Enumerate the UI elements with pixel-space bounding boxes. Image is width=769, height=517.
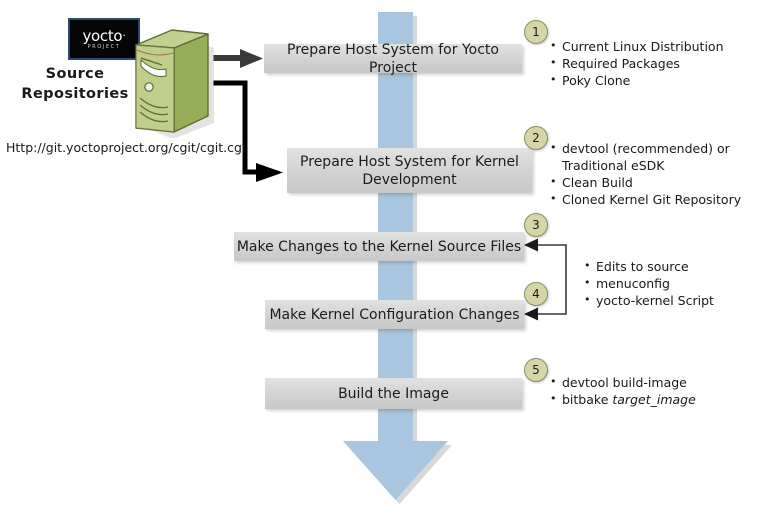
bullet-list-step-1: Current Linux Distribution Required Pack… bbox=[549, 38, 767, 89]
bullet-list-step-5: devtool build-image bitbake target_image bbox=[549, 374, 767, 408]
list-item: Cloned Kernel Git Repository bbox=[549, 191, 767, 208]
process-box-step-2-label-line1: Prepare Host System for Kernel bbox=[300, 154, 519, 170]
list-item: yocto-kernel Script bbox=[583, 292, 768, 309]
repository-url-text: Http://git.yoctoproject.org/cgit/cgit.cg… bbox=[6, 140, 245, 155]
source-label-line1: Source bbox=[8, 64, 142, 84]
step-badge-3: 3 bbox=[524, 213, 548, 237]
bullet-text: Cloned Kernel Git Repository bbox=[562, 192, 741, 207]
process-box-step-1[interactable]: Prepare Host System for Yocto Project bbox=[264, 44, 522, 73]
bullet-text: devtool (recommended) or bbox=[562, 141, 730, 156]
step-badge-4: 4 bbox=[524, 282, 548, 306]
bullet-text-italic: target_image bbox=[612, 392, 695, 407]
bullet-text: Current Linux Distribution bbox=[562, 39, 724, 54]
process-box-step-5[interactable]: Build the Image bbox=[265, 378, 522, 409]
process-box-step-4[interactable]: Make Kernel Configuration Changes bbox=[265, 300, 524, 329]
bullet-text: yocto-kernel Script bbox=[596, 293, 714, 308]
process-box-step-3[interactable]: Make Changes to the Kernel Source Files bbox=[234, 232, 524, 261]
step-badge-1: 1 bbox=[524, 20, 548, 44]
process-box-step-4-label: Make Kernel Configuration Changes bbox=[269, 306, 519, 324]
bullet-list-step-2: devtool (recommended) or Traditional eSD… bbox=[549, 140, 767, 208]
step-badge-1-number: 1 bbox=[532, 25, 540, 39]
diagram-canvas: yocto· PROJECT Source Repositories Http:… bbox=[0, 0, 769, 517]
bullet-text: menuconfig bbox=[596, 276, 670, 291]
list-item: Edits to source bbox=[583, 258, 768, 275]
bullet-text: Edits to source bbox=[596, 259, 689, 274]
list-item: bitbake target_image bbox=[549, 391, 767, 408]
step-badge-3-number: 3 bbox=[532, 218, 540, 232]
source-label-line2: Repositories bbox=[8, 84, 142, 104]
bullet-text: devtool build-image bbox=[562, 375, 687, 390]
list-item: Required Packages bbox=[549, 55, 767, 72]
list-item: devtool build-image bbox=[549, 374, 767, 391]
bullet-text-continuation: Traditional eSDK bbox=[562, 157, 767, 174]
list-item: Clean Build bbox=[549, 174, 767, 191]
bullet-text: Poky Clone bbox=[562, 73, 630, 88]
step-badge-5-number: 5 bbox=[532, 363, 540, 377]
process-box-step-2-label: Prepare Host System for Kernel Developme… bbox=[300, 153, 519, 189]
bullet-text: Required Packages bbox=[562, 56, 680, 71]
source-repositories-label: Source Repositories bbox=[8, 64, 142, 104]
process-box-step-2[interactable]: Prepare Host System for Kernel Developme… bbox=[287, 148, 532, 193]
process-box-step-1-label: Prepare Host System for Yocto Project bbox=[264, 41, 522, 77]
list-item: Current Linux Distribution bbox=[549, 38, 767, 55]
step-badge-5: 5 bbox=[524, 358, 548, 382]
logo-wordmark: yocto· bbox=[82, 29, 125, 44]
step-badge-2: 2 bbox=[524, 126, 548, 150]
list-item: devtool (recommended) or Traditional eSD… bbox=[549, 140, 767, 174]
bullet-list-step-3-4: Edits to source menuconfig yocto-kernel … bbox=[583, 258, 768, 309]
list-item: menuconfig bbox=[583, 275, 768, 292]
process-box-step-5-label: Build the Image bbox=[338, 385, 449, 403]
server-tower-icon bbox=[128, 28, 214, 138]
step-badge-4-number: 4 bbox=[532, 287, 540, 301]
bullet-text: Clean Build bbox=[562, 175, 633, 190]
bullet-text: bitbake bbox=[562, 392, 612, 407]
logo-dot: · bbox=[122, 29, 125, 42]
logo-subword: PROJECT bbox=[88, 45, 121, 50]
list-item: Poky Clone bbox=[549, 72, 767, 89]
step-badge-2-number: 2 bbox=[532, 131, 540, 145]
process-box-step-3-label: Make Changes to the Kernel Source Files bbox=[237, 238, 521, 256]
process-box-step-2-label-line2: Development bbox=[362, 172, 456, 188]
